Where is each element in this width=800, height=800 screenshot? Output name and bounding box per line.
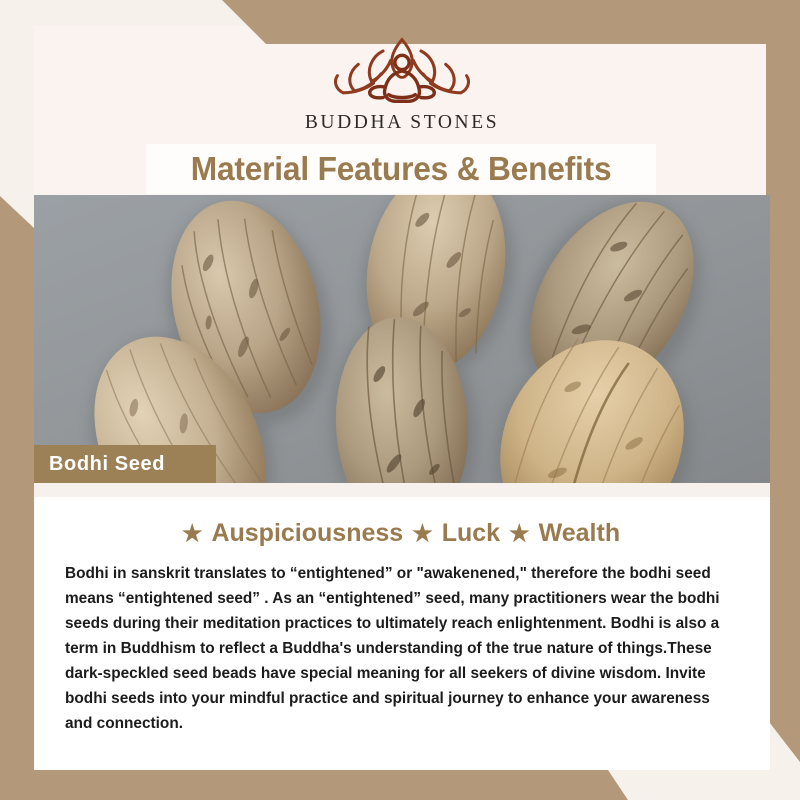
benefit-auspiciousness: Auspiciousness bbox=[209, 519, 405, 547]
frame-right-accent bbox=[766, 0, 800, 762]
star-icon: ★ bbox=[412, 520, 433, 546]
benefit-wealth: Wealth bbox=[537, 519, 623, 547]
brand-header: BUDDHA STONES bbox=[34, 26, 770, 146]
infographic-page: BUDDHA STONES Material Features & Benefi… bbox=[0, 0, 800, 800]
description-text: Bodhi in sanskrit translates to “entight… bbox=[34, 548, 770, 737]
bodhi-seeds-illustration bbox=[34, 195, 770, 483]
description-panel: ★ Auspiciousness ★ Luck ★ Wealth Bodhi i… bbox=[34, 483, 770, 770]
panel-top-divider bbox=[34, 483, 770, 497]
page-title: Material Features & Benefits bbox=[191, 150, 612, 188]
lotus-meditation-figure-icon bbox=[316, 32, 488, 108]
section-title-banner: Material Features & Benefits bbox=[146, 144, 656, 194]
seed-label-text: Bodhi Seed bbox=[34, 453, 165, 476]
product-photo bbox=[34, 195, 770, 483]
frame-left-accent bbox=[0, 0, 34, 800]
brand-name: BUDDHA STONES bbox=[305, 112, 499, 134]
star-icon: ★ bbox=[182, 520, 203, 546]
benefit-luck: Luck bbox=[440, 519, 502, 547]
star-icon: ★ bbox=[509, 520, 530, 546]
status-badge: Bodhi Seed bbox=[34, 445, 216, 483]
